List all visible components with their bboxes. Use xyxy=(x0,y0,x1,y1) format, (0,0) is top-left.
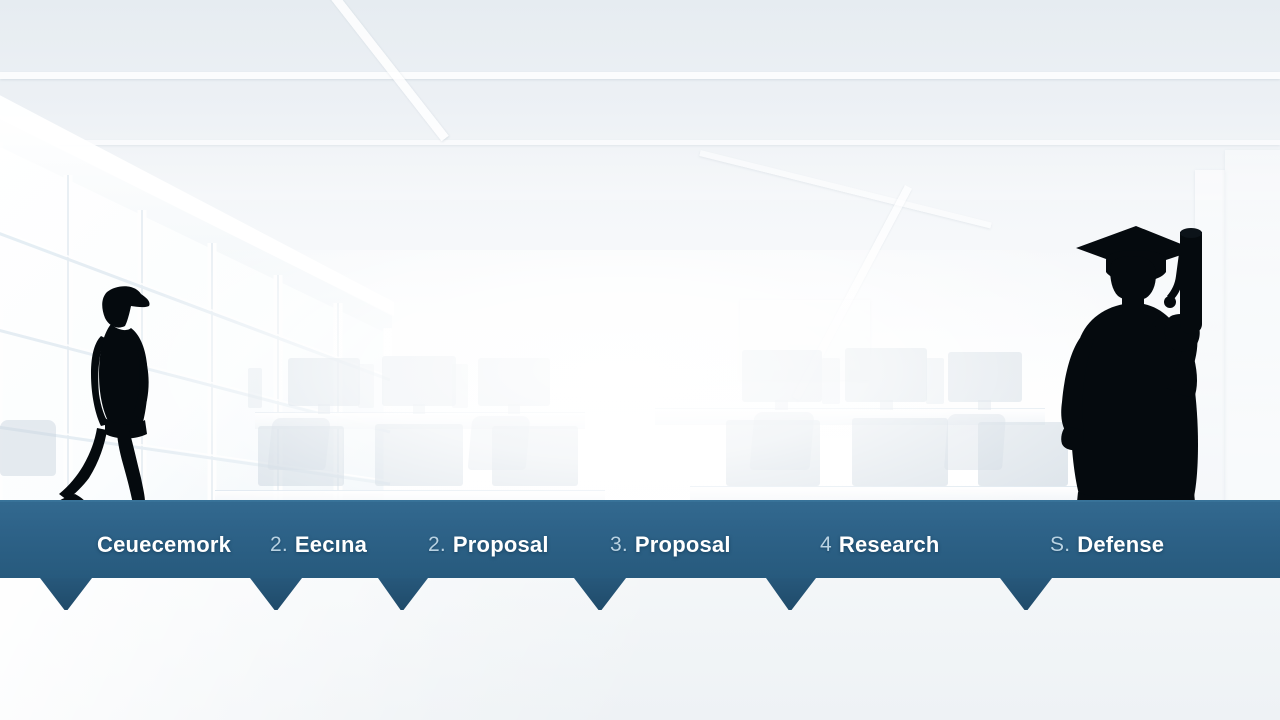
step-title: Proposal xyxy=(635,532,731,558)
step-number: 4 xyxy=(820,533,832,557)
step-title: Proposal xyxy=(453,532,549,558)
step-number: 3. xyxy=(610,533,628,557)
process-step-4[interactable]: 3. Proposal xyxy=(610,528,731,562)
step-title: Ceuecemork xyxy=(97,532,231,558)
process-band: Ceuecemork 2. Eecına 2. Proposal 3. Prop… xyxy=(0,470,1280,610)
process-step-5[interactable]: 4 Research xyxy=(820,528,940,562)
step-title: Defense xyxy=(1077,532,1164,558)
step-title: Eecına xyxy=(295,532,367,558)
monitor-stand xyxy=(413,404,425,414)
step-number: S. xyxy=(1050,533,1070,557)
monitor-stand xyxy=(775,400,788,410)
chevron-down xyxy=(250,578,302,610)
monitor xyxy=(478,358,550,406)
chair xyxy=(468,416,531,470)
ceiling-beam-diagonal xyxy=(699,150,992,228)
process-step-3[interactable]: 2. Proposal xyxy=(428,528,549,562)
band-highlight xyxy=(0,500,1280,502)
step-number: 2. xyxy=(428,533,446,557)
monitor xyxy=(845,348,927,402)
process-step-1[interactable]: Ceuecemork xyxy=(90,528,231,562)
process-timeline-scene: Ceuecemork 2. Eecına 2. Proposal 3. Prop… xyxy=(0,0,1280,720)
computer-tower xyxy=(452,364,468,408)
chevron-down xyxy=(766,578,816,610)
monitor-stand xyxy=(508,404,520,414)
chevron-down xyxy=(378,578,428,610)
monitor-stand xyxy=(978,400,991,410)
chair xyxy=(944,414,1006,470)
computer-tower xyxy=(248,368,262,408)
chevron-down xyxy=(574,578,626,610)
monitor xyxy=(948,352,1022,402)
step-number: 2. xyxy=(270,533,288,557)
monitor xyxy=(288,358,360,406)
computer-tower xyxy=(358,364,374,408)
computer-tower xyxy=(822,358,840,404)
chair xyxy=(267,418,330,470)
ceiling-beam-horizontal xyxy=(0,72,1280,79)
chair xyxy=(0,420,56,476)
process-step-6[interactable]: S. Defense xyxy=(1050,528,1164,562)
chair xyxy=(749,412,814,470)
monitor-stand xyxy=(880,400,893,410)
process-step-2[interactable]: 2. Eecına xyxy=(270,528,367,562)
step-title: Research xyxy=(839,532,940,558)
monitor xyxy=(382,356,456,406)
monitor xyxy=(742,350,822,402)
computer-tower xyxy=(926,358,944,404)
chevron-down xyxy=(40,578,92,610)
monitor-stand xyxy=(318,404,330,414)
band-chevron-down-group xyxy=(40,578,1052,610)
chevron-down xyxy=(1000,578,1052,610)
